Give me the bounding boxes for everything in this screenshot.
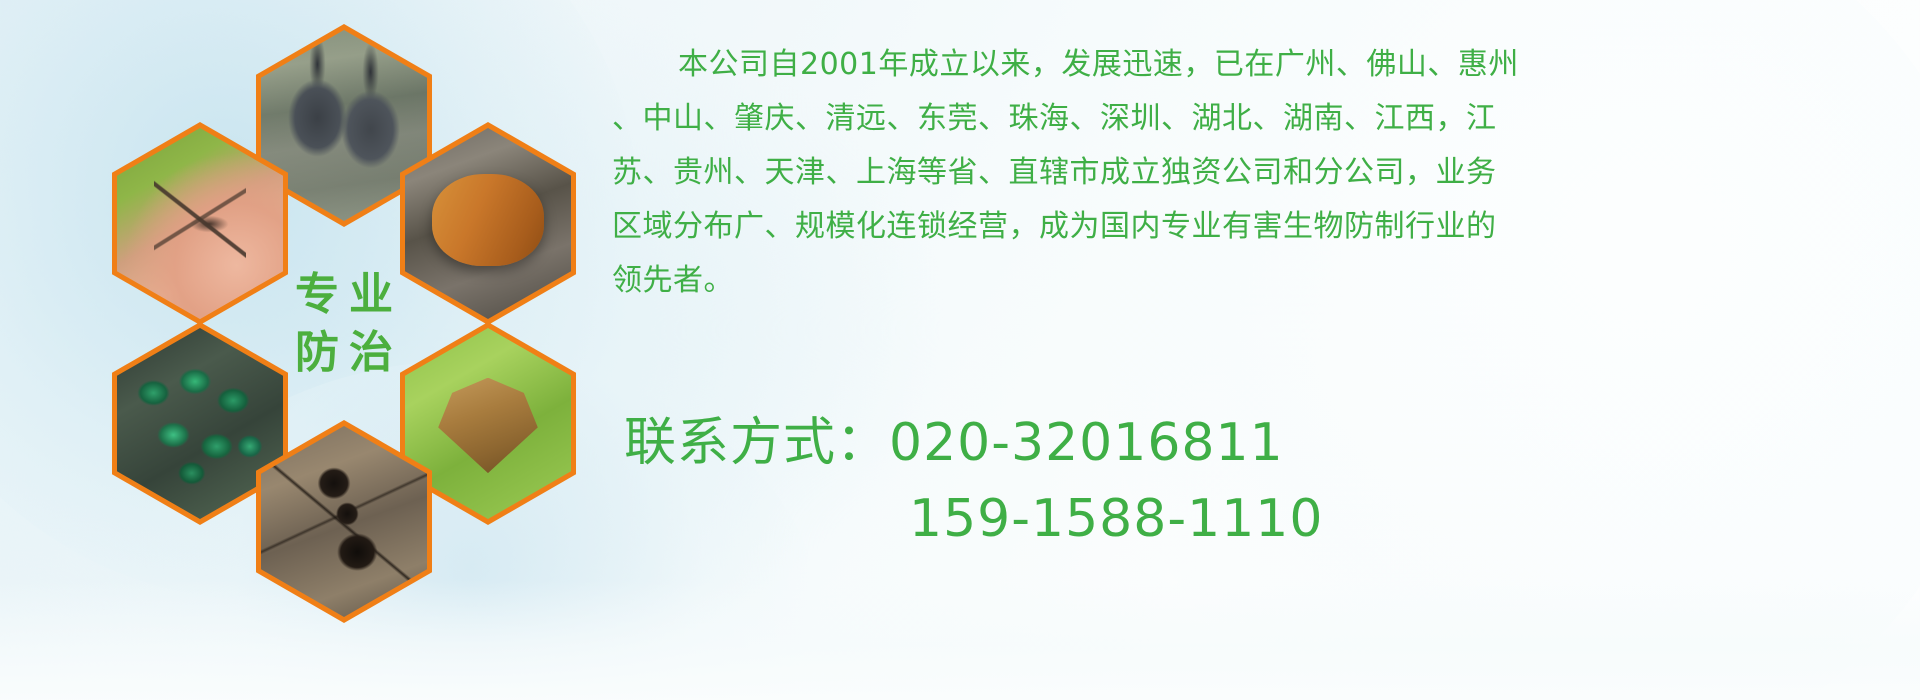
- background-bottom-fade: [0, 580, 1920, 700]
- contact-phone-secondary[interactable]: 159-1588-1110: [624, 481, 1323, 557]
- contact-block: 联系方式：020-32016811 159-1588-1110: [624, 405, 1323, 557]
- intro-line-5: 领先者。: [612, 254, 1912, 308]
- intro-line-4: 区域分布广、规模化连锁经营，成为国内专业有害生物防制行业的: [612, 200, 1912, 254]
- hex-inner-ant: [261, 426, 427, 617]
- intro-line-2: 、中山、肇庆、清远、东莞、珠海、深圳、湖北、湖南、江西，江: [612, 92, 1912, 146]
- honeycomb-collage: 专业 防治: [88, 8, 588, 568]
- intro-line-3: 苏、贵州、天津、上海等省、直辖市成立独资公司和分公司，业务: [612, 146, 1912, 200]
- slogan-line-1: 专业: [285, 273, 403, 317]
- ant-photo: [261, 426, 427, 617]
- contact-phone-primary[interactable]: 联系方式：020-32016811: [624, 405, 1323, 481]
- intro-line-1: 本公司自2001年成立以来，发展迅速，已在广州、佛山、惠州: [612, 38, 1912, 92]
- slogan-block: 专业 防治: [256, 222, 432, 425]
- intro-copy: 本公司自2001年成立以来，发展迅速，已在广州、佛山、惠州 、中山、肇庆、清远、…: [612, 38, 1912, 308]
- slogan-line-2: 防治: [285, 331, 403, 375]
- intro-paragraph: 本公司自2001年成立以来，发展迅速，已在广州、佛山、惠州 、中山、肇庆、清远、…: [612, 38, 1912, 308]
